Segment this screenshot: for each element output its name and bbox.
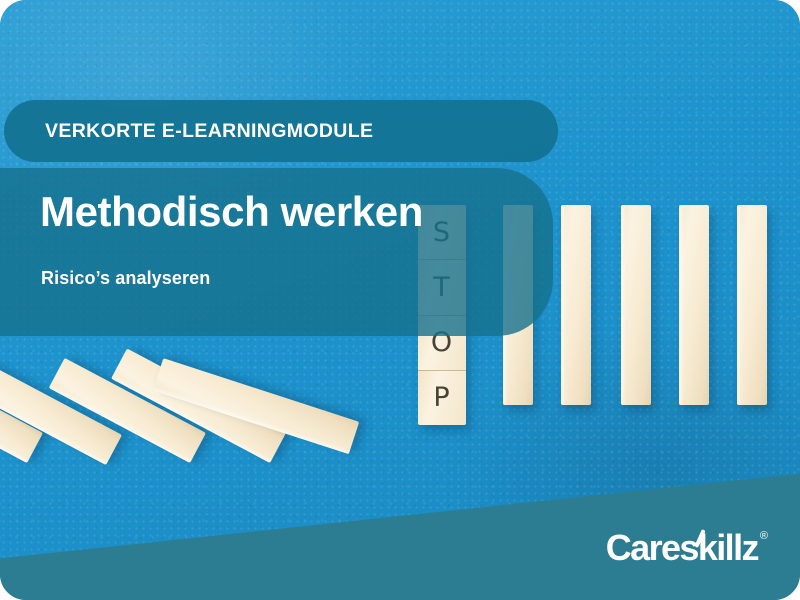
page-title: Methodisch werken (40, 188, 423, 236)
eyebrow-banner: VERKORTE E-LEARNINGMODULE (4, 100, 558, 162)
standing-domino (737, 205, 767, 405)
standing-domino (679, 205, 709, 405)
standing-domino (561, 205, 591, 405)
title-panel-content: Methodisch werken Risico’s analyseren (40, 168, 553, 336)
registered-trademark-symbol: ® (760, 529, 768, 543)
standing-domino (621, 205, 651, 405)
stop-letter-tile: P (418, 371, 466, 425)
eyebrow-label: VERKORTE E-LEARNINGMODULE (45, 120, 373, 143)
logo-wordmark: Careskillz (606, 528, 758, 568)
title-panel: Methodisch werken Risico’s analyseren (0, 168, 553, 336)
page-subtitle: Risico’s analyseren (41, 268, 210, 289)
careskillz-logo: Careskillz ® (606, 528, 768, 568)
module-card: S T O P VERKORTE E-LEARNINGMODULE Method… (0, 0, 800, 600)
